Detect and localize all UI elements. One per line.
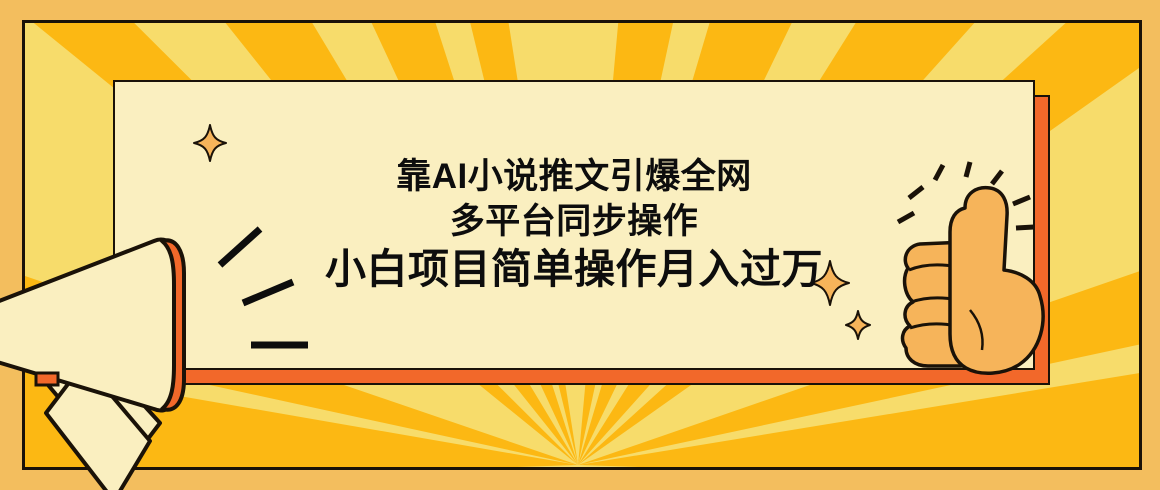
headline-line-1: 靠AI小说推文引爆全网 xyxy=(396,157,752,196)
headline-line-2: 多平台同步操作 xyxy=(450,202,699,241)
speed-lines-icon xyxy=(215,215,345,370)
sparkle-star-icon xyxy=(193,124,227,162)
thumbs-up-icon xyxy=(880,160,1060,395)
sparkle-star-icon xyxy=(845,310,871,340)
headline-line-3: 小白项目简单操作月入过万 xyxy=(325,247,823,293)
promotional-poster: 靠AI小说推文引爆全网 多平台同步操作 小白项目简单操作月入过万 xyxy=(0,0,1160,490)
sparkle-star-icon xyxy=(810,260,850,306)
